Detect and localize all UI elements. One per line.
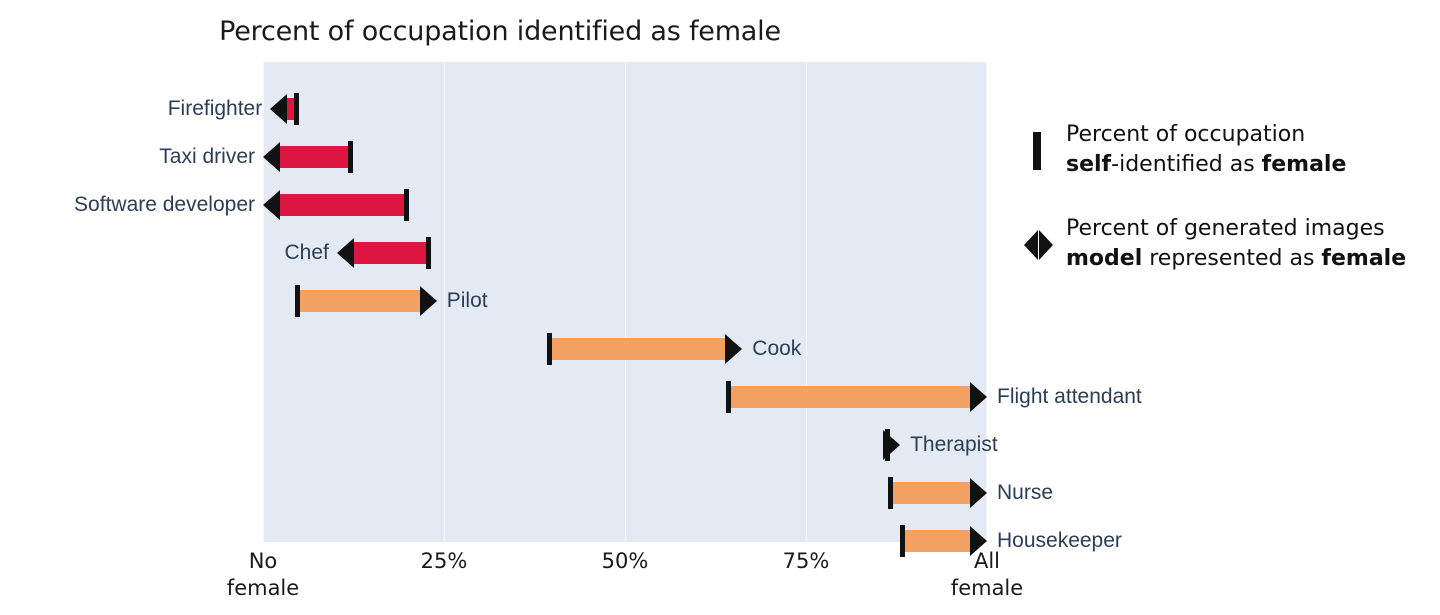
self-identified-tick <box>888 477 893 509</box>
legend-label: Percent of occupationself-identified as … <box>1066 120 1440 180</box>
legend-label: Percent of generated imagesmodel represe… <box>1066 214 1440 274</box>
bar-row-label: Taxi driver <box>0 134 255 179</box>
legend-line-1: Percent of occupation <box>1066 120 1440 150</box>
x-axis-tick-label: Allfemale <box>897 548 1077 602</box>
self-identified-tick <box>885 429 890 461</box>
legend-emphasis-b: female <box>1321 246 1406 271</box>
tick-glyph <box>1033 132 1041 170</box>
legend-line-1: Percent of generated images <box>1066 214 1440 244</box>
bar-segment <box>549 338 725 360</box>
model-arrow-left-icon <box>270 94 287 124</box>
x-axis-tick-label: Nofemale <box>173 548 353 602</box>
arrow-left-glyph <box>1024 230 1038 260</box>
self-identified-tick <box>295 285 300 317</box>
self-identified-tick <box>294 93 299 125</box>
x-tick-line1: No <box>249 549 278 573</box>
model-arrow-right-icon <box>420 286 437 316</box>
bar-row: Therapist <box>0 422 1440 467</box>
model-arrow-left-icon <box>263 142 280 172</box>
model-arrow-left-icon <box>337 238 354 268</box>
arrow-right-glyph <box>1039 230 1053 260</box>
bar-row-label: Firefighter <box>0 86 262 131</box>
chart-legend: Percent of occupationself-identified as … <box>1022 120 1440 308</box>
legend-emphasis-b: female <box>1262 152 1347 177</box>
double-arrow-marker-icon <box>1022 222 1060 266</box>
self-identified-tick <box>547 333 552 365</box>
self-identified-tick <box>426 237 431 269</box>
bar-segment <box>890 482 970 504</box>
bar-segment <box>280 194 409 216</box>
bar-row-label: Therapist <box>910 422 1340 467</box>
bar-row: Cook <box>0 326 1440 371</box>
chart-title: Percent of occupation identified as fema… <box>0 16 1000 47</box>
x-tick-line1: 25% <box>421 549 468 573</box>
x-tick-line2: female <box>897 575 1077 602</box>
x-tick-line1: All <box>974 549 1000 573</box>
bar-row: Flight attendant <box>0 374 1440 419</box>
self-identified-tick <box>726 381 731 413</box>
model-arrow-right-icon <box>970 382 987 412</box>
bar-segment <box>297 290 420 312</box>
bar-row-label: Software developer <box>0 182 255 227</box>
bar-segment <box>354 242 431 264</box>
model-arrow-left-icon <box>263 190 280 220</box>
self-identified-tick <box>348 141 353 173</box>
legend-line-2-mid: -identified as <box>1111 152 1262 177</box>
legend-line-2: self-identified as female <box>1066 150 1440 180</box>
x-tick-line2: female <box>173 575 353 602</box>
bar-segment <box>728 386 970 408</box>
x-tick-line1: 75% <box>783 549 830 573</box>
model-arrow-right-icon <box>970 478 987 508</box>
self-identified-tick <box>404 189 409 221</box>
legend-emphasis-a: self <box>1066 152 1111 177</box>
chart-container: Percent of occupation identified as fema… <box>0 0 1440 615</box>
legend-entry: Percent of occupationself-identified as … <box>1022 120 1440 186</box>
bar-row-label: Cook <box>752 326 1182 371</box>
x-axis: Nofemale25%50%75%Allfemale <box>0 548 1440 608</box>
tick-marker-icon <box>1022 128 1060 172</box>
bar-row-label: Chef <box>0 230 329 275</box>
x-axis-tick-label: 25% <box>354 548 534 575</box>
x-axis-tick-label: 75% <box>716 548 896 575</box>
bar-segment <box>280 146 353 168</box>
legend-line-2: model represented as female <box>1066 244 1440 274</box>
bar-row-label: Flight attendant <box>997 374 1427 419</box>
bar-row: Nurse <box>0 470 1440 515</box>
x-axis-tick-label: 50% <box>535 548 715 575</box>
model-arrow-right-icon <box>725 334 742 364</box>
legend-emphasis-a: model <box>1066 246 1142 271</box>
legend-line-2-mid: represented as <box>1142 246 1321 271</box>
legend-entry: Percent of generated imagesmodel represe… <box>1022 214 1440 280</box>
bar-row-label: Pilot <box>447 278 877 323</box>
x-tick-line1: 50% <box>602 549 649 573</box>
bar-row-label: Nurse <box>997 470 1427 515</box>
